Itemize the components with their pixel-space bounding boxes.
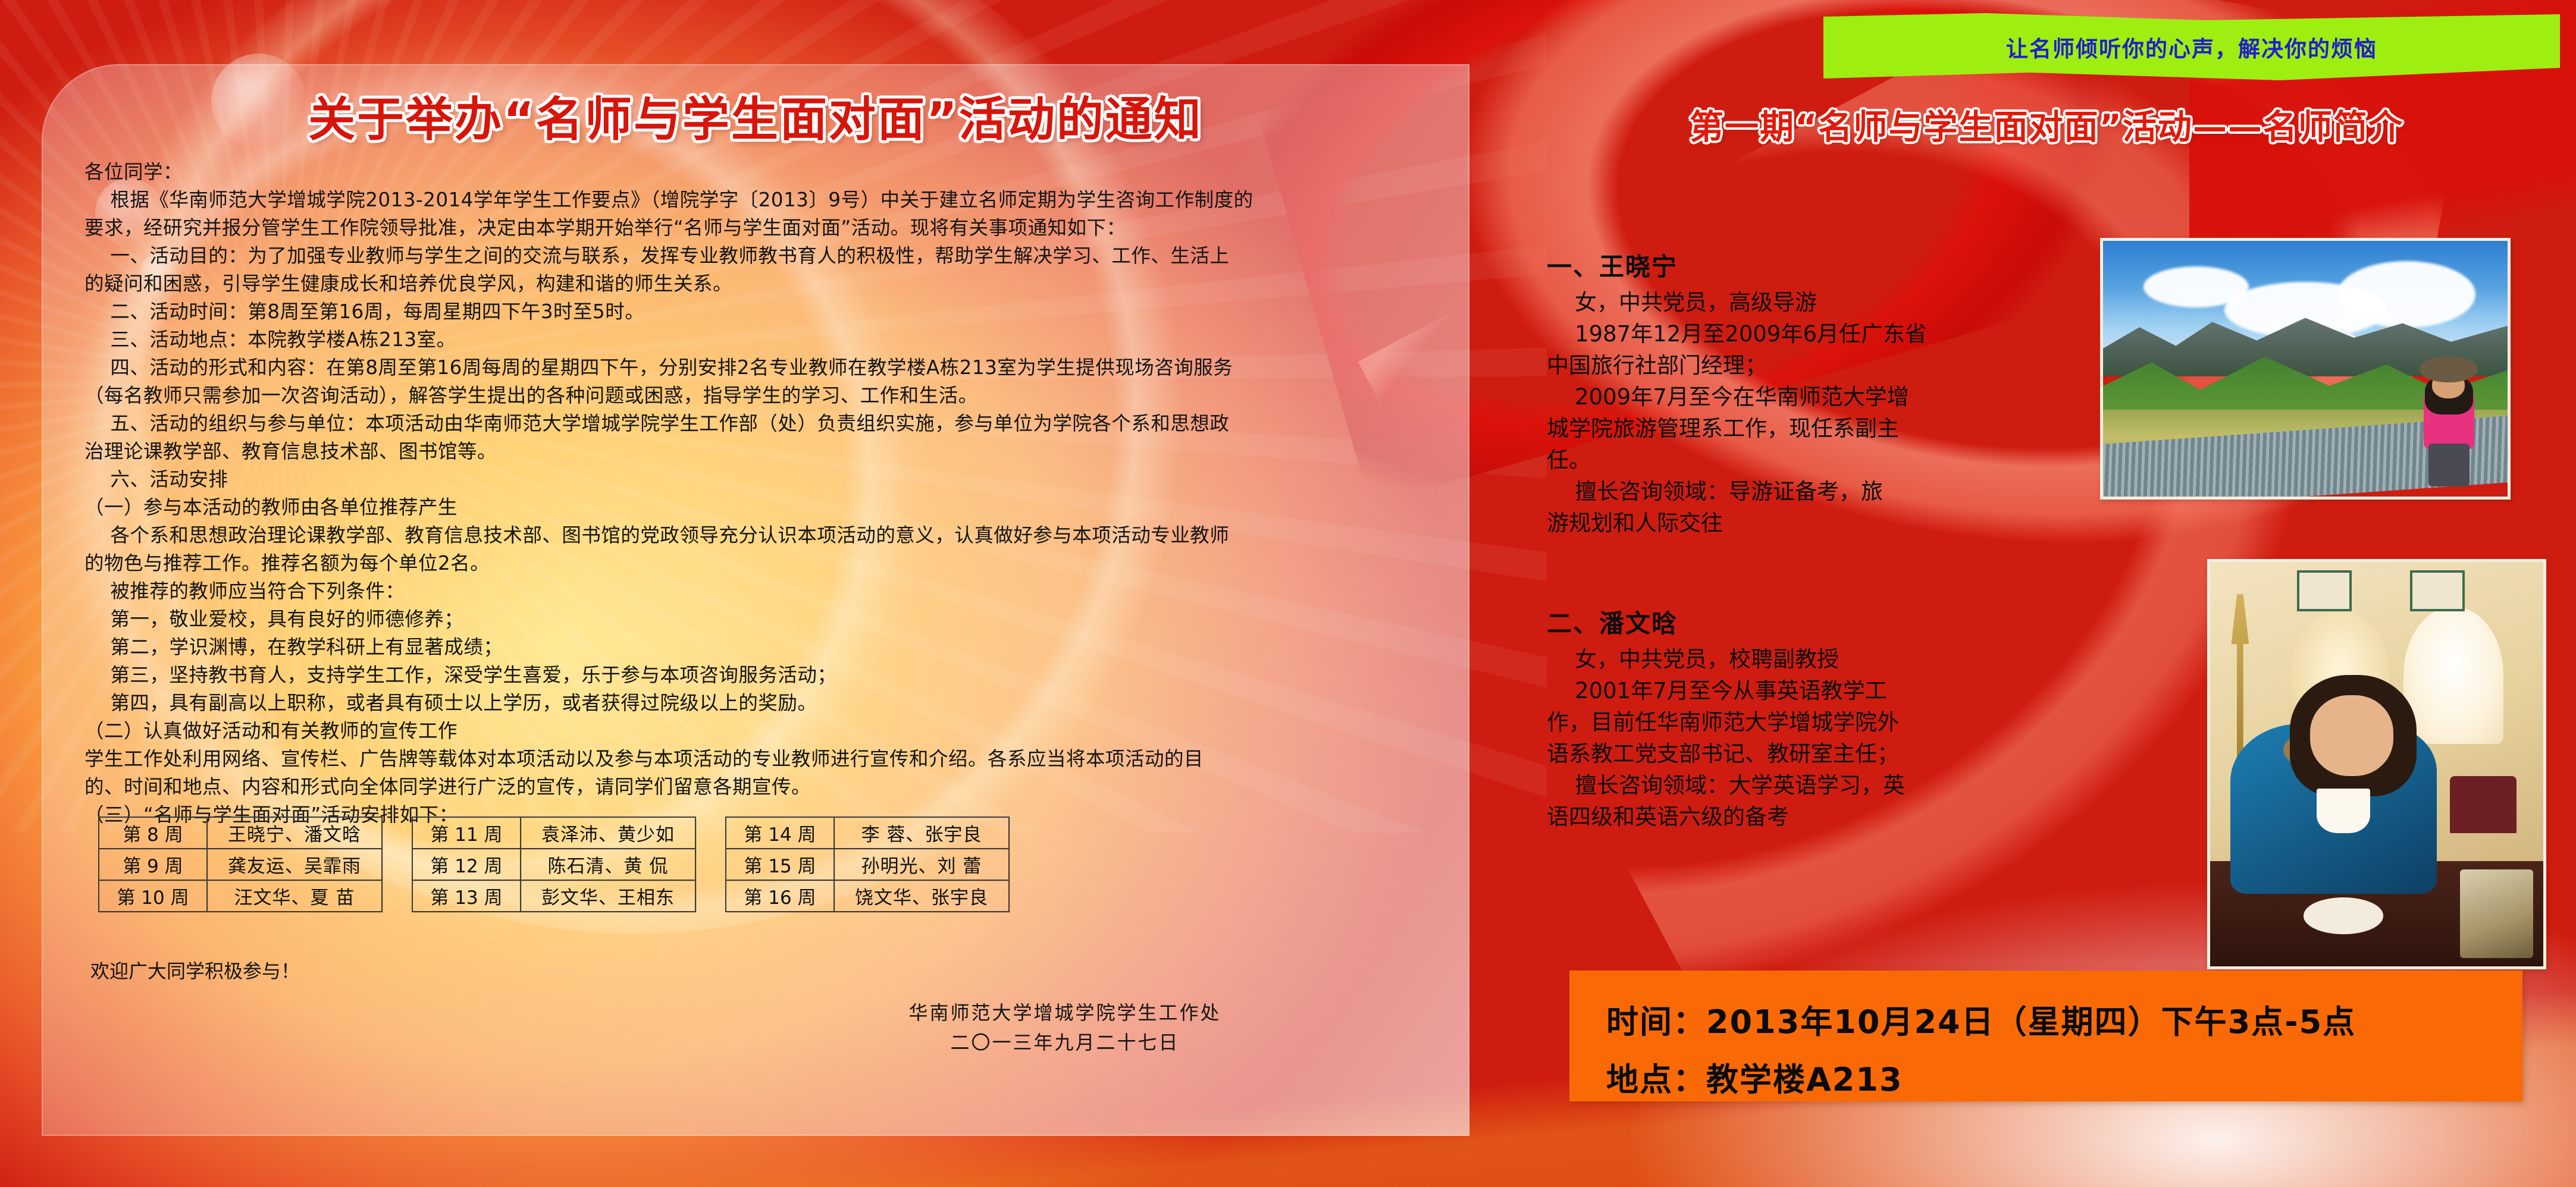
table-row: 第 14 周 李 蓉、张宇良: [726, 817, 1009, 849]
notice-line: 治理论课教学部、教育信息技术部、图书馆等。: [84, 438, 1447, 466]
photo-wall-frame: [2297, 570, 2352, 611]
profile-line: 语系教工党支部书记、教研室主任；: [1547, 738, 2082, 770]
profile-line: 2001年7月至今从事英语教学工: [1547, 675, 2082, 706]
notice-line: 的疑问和困惑，引导学生健康成长和培养优良学风，构建和谐的师生关系。: [84, 270, 1447, 298]
photo-plate: [2304, 897, 2383, 934]
notice-line: 五、活动的组织与参与单位：本项活动由华南师范大学增城学院学生工作部（处）负责组织…: [84, 410, 1447, 438]
teacher-profile-2: 二、潘文晗 女，中共党员，校聘副教授 2001年7月至今从事英语教学工 作，目前…: [1547, 604, 2082, 833]
notice-line: 的物色与推荐工作。推荐名额为每个单位2名。: [84, 549, 1447, 577]
event-time: 时间：2013年10月24日（星期四）下午3点-5点: [1606, 971, 2522, 1042]
notice-line: 第四，具有副高以上职称，或者具有硕士以上学历，或者获得过院级以上的奖励。: [84, 689, 1447, 717]
notice-line: 一、活动目的：为了加强专业教师与学生之间的交流与联系，发挥专业教师教书育人的积极…: [84, 242, 1447, 270]
profile-line: 任。: [1547, 444, 2082, 476]
teachers-cell: 李 蓉、张宇良: [834, 817, 1009, 849]
teachers-cell: 饶文华、张宇良: [834, 880, 1009, 912]
notice-line: 学生工作处利用网络、宣传栏、广告牌等载体对本项活动以及参与本项活动的专业教师进行…: [84, 745, 1447, 773]
notice-line: 第二，学识渊博，在教学科研上有显著成绩；: [84, 633, 1447, 661]
schedule-table-3: 第 14 周 李 蓉、张宇良 第 15 周 孙明光、刘 蕾 第 16 周 饶文华…: [725, 817, 1010, 912]
photo-wall-frame: [2410, 570, 2465, 611]
notice-line: 第三，坚持教书育人，支持学生工作，深受学生喜爱，乐于参与本项咨询服务活动；: [84, 661, 1447, 689]
profile-line: 1987年12月至2009年6月任广东省: [1547, 318, 2082, 350]
notice-line: 二、活动时间：第8周至第16周，每周星期四下午3时至5时。: [84, 298, 1447, 326]
slogan-text: 让名师倾听你的心声，解决你的烦恼: [2006, 31, 2377, 63]
notice-line: 各位同学：: [84, 158, 1447, 186]
profile-line: 女，中共党员，校聘副教授: [1547, 643, 2082, 675]
table-row: 第 11 周 袁泽沛、黄少如: [412, 817, 695, 849]
notice-title: 关于举办“名师与学生面对面”活动的通知: [42, 81, 1469, 149]
week-cell: 第 14 周: [726, 817, 834, 849]
event-info-box: 时间：2013年10月24日（星期四）下午3点-5点 地点：教学楼A213: [1569, 971, 2522, 1101]
teachers-cell: 王晓宁、潘文晗: [207, 817, 382, 849]
teacher-name: 二、潘文晗: [1547, 604, 2082, 640]
table-row: 第 12 周 陈石清、黄 侃: [412, 849, 695, 880]
profile-line: 游规划和人际交往: [1547, 507, 2082, 539]
profiles-title: 第一期“名师与学生面对面”活动——名师简介: [1523, 100, 2570, 149]
notice-line: 根据《华南师范大学增城学院2013-2014学年学生工作要点》（增院学字〔201…: [84, 186, 1447, 214]
photo-chair: [2450, 776, 2517, 833]
photo-person: [2418, 353, 2479, 486]
event-place: 地点：教学楼A213: [1606, 1042, 2522, 1100]
notice-line: （一）参与本活动的教师由各单位推荐产生: [84, 494, 1447, 522]
teacher-name: 一、王晓宁: [1547, 247, 2082, 283]
photo-coffee-cup: [2317, 789, 2370, 833]
teachers-cell: 陈石清、黄 侃: [521, 849, 695, 880]
notice-panel: 关于举办“名师与学生面对面”活动的通知 各位同学： 根据《华南师范大学增城学院2…: [42, 64, 1469, 1136]
week-cell: 第 13 周: [412, 880, 521, 912]
week-cell: 第 12 周: [412, 849, 521, 880]
profile-line: 擅长咨询领域：导游证备考，旅: [1547, 476, 2082, 507]
week-cell: 第 8 周: [99, 817, 207, 849]
table-row: 第 8 周 王晓宁、潘文晗: [99, 817, 382, 849]
profile-line: 2009年7月至今在华南师范大学增: [1547, 381, 2082, 413]
photo-person-hat: [2420, 356, 2478, 383]
welcome-text: 欢迎广大同学积极参与！: [90, 956, 300, 984]
notice-body: 各位同学： 根据《华南师范大学增城学院2013-2014学年学生工作要点》（增院…: [84, 158, 1447, 829]
teacher-pan-cafe-photo: [2207, 559, 2546, 969]
week-cell: 第 15 周: [726, 849, 834, 880]
photo-person-face: [2310, 695, 2393, 776]
signature-date: 二〇一三年九月二十七日: [839, 1028, 1291, 1057]
profile-line: 擅长咨询领域：大学英语学习，英: [1547, 770, 2082, 801]
notice-line: 第一，敬业爱校，具有良好的师德修养；: [84, 605, 1447, 633]
profile-line: 作，目前任华南师范大学增城学院外: [1547, 706, 2082, 738]
notice-line: 六、活动安排: [84, 466, 1447, 494]
teachers-cell: 汪文华、夏 苗: [207, 880, 382, 912]
notice-line: 的、时间和地点、内容和形式向全体同学进行广泛的宣传，请同学们留意各期宣传。: [84, 773, 1447, 801]
table-row: 第 13 周 彭文华、王相东: [412, 880, 695, 912]
table-row: 第 15 周 孙明光、刘 蕾: [726, 849, 1009, 880]
photo-window: [2403, 607, 2503, 744]
profile-line: 城学院旅游管理系工作，现任系副主: [1547, 413, 2082, 444]
teachers-cell: 龚友运、吴霏雨: [207, 849, 382, 880]
notice-line: 四、活动的形式和内容：在第8周至第16周每周的星期四下午，分别安排2名专业教师在…: [84, 354, 1447, 382]
photo-metal-pot: [2460, 869, 2533, 959]
notice-line: 被推荐的教师应当符合下列条件：: [84, 577, 1447, 605]
table-row: 第 16 周 饶文华、张宇良: [726, 880, 1009, 912]
photo-cloud: [2337, 261, 2475, 328]
profile-line: 女，中共党员，高级导游: [1547, 287, 2082, 318]
profile-line: 中国旅行社部门经理；: [1547, 350, 2082, 381]
week-cell: 第 10 周: [99, 880, 207, 912]
schedule-table-1: 第 8 周 王晓宁、潘文晗 第 9 周 龚友运、吴霏雨 第 10 周 汪文华、夏…: [98, 817, 383, 912]
poster-canvas: 关于举办“名师与学生面对面”活动的通知 各位同学： 根据《华南师范大学增城学院2…: [0, 0, 2576, 1187]
schedule-table-2: 第 11 周 袁泽沛、黄少如 第 12 周 陈石清、黄 侃 第 13 周 彭文华…: [412, 817, 696, 912]
notice-line: （二）认真做好活动和有关教师的宣传工作: [84, 717, 1447, 745]
week-cell: 第 9 周: [99, 849, 207, 880]
notice-line: （每名教师只需参加一次咨询活动），解答学生提出的各种问题或困惑，指导学生的学习、…: [84, 382, 1447, 410]
teachers-cell: 彭文华、王相东: [521, 880, 695, 912]
notice-line: 三、活动地点：本院教学楼A栋213室。: [84, 326, 1447, 354]
signature-block: 华南师范大学增城学院学生工作处 二〇一三年九月二十七日: [839, 998, 1291, 1057]
teachers-cell: 袁泽沛、黄少如: [521, 817, 695, 849]
table-row: 第 10 周 汪文华、夏 苗: [99, 880, 382, 912]
signature-organization: 华南师范大学增城学院学生工作处: [839, 998, 1291, 1028]
teacher-profile-1: 一、王晓宁 女，中共党员，高级导游 1987年12月至2009年6月任广东省 中…: [1547, 247, 2082, 539]
profile-line: 语四级和英语六级的备考: [1547, 801, 2082, 833]
teacher-wang-mountain-photo: [2100, 238, 2511, 500]
photo-person-trousers: [2428, 444, 2470, 486]
notice-line: 各个系和思想政治理论课教学部、教育信息技术部、图书馆的党政领导充分认识本项活动的…: [84, 522, 1447, 549]
green-slogan-banner: 让名师倾听你的心声，解决你的烦恼: [1823, 13, 2560, 80]
week-cell: 第 16 周: [726, 880, 834, 912]
notice-line: 要求，经研究并报分管学生工作院领导批准，决定由本学期开始举行“名师与学生面对面”…: [84, 214, 1447, 242]
week-cell: 第 11 周: [412, 817, 521, 849]
schedule-tables: 第 8 周 王晓宁、潘文晗 第 9 周 龚友运、吴霏雨 第 10 周 汪文华、夏…: [98, 817, 1010, 912]
teachers-cell: 孙明光、刘 蕾: [834, 849, 1009, 880]
table-row: 第 9 周 龚友运、吴霏雨: [99, 849, 382, 880]
